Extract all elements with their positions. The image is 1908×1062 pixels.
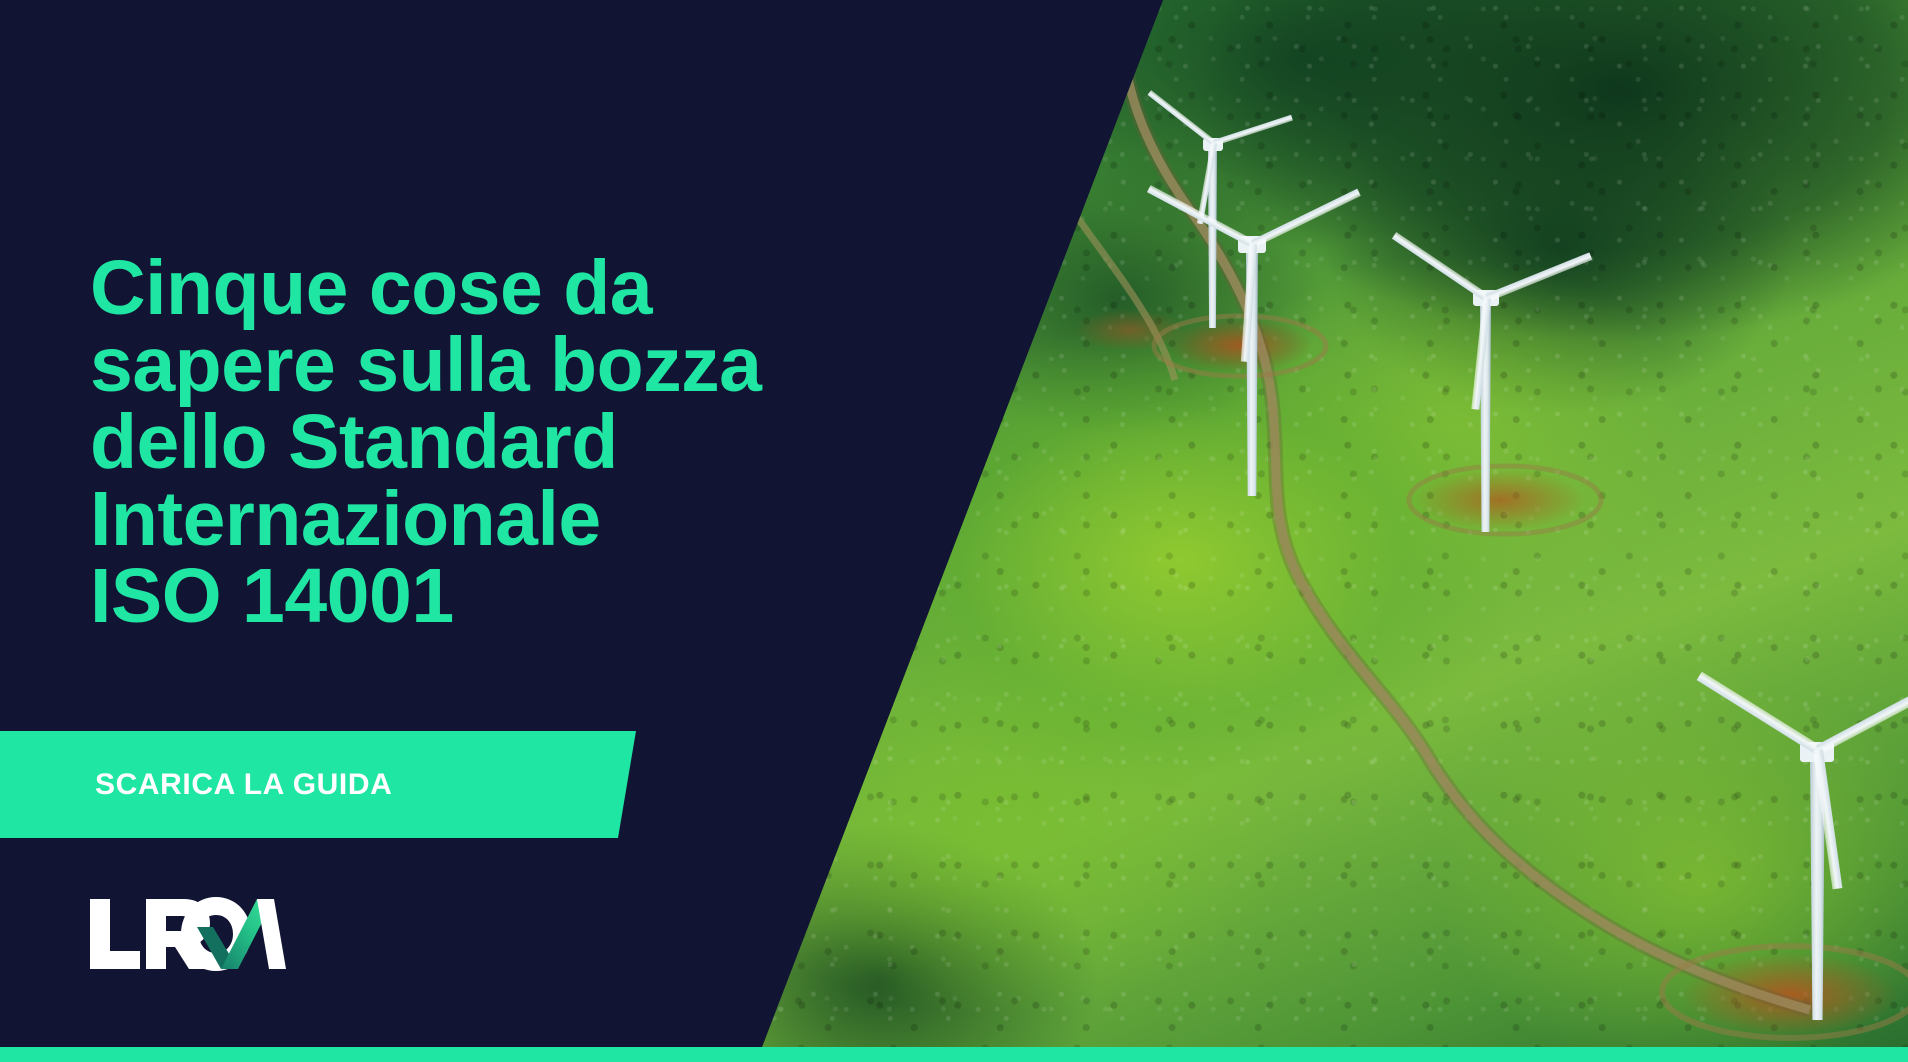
promotional-banner: Cinque cose da sapere sulla bozza dello … xyxy=(0,0,1908,1062)
download-guide-button[interactable]: SCARICA LA GUIDA xyxy=(0,731,636,838)
download-guide-label: SCARICA LA GUIDA xyxy=(0,768,392,802)
bottom-accent-bar xyxy=(0,1047,1908,1062)
wind-turbine xyxy=(1418,232,1678,532)
wind-turbine xyxy=(1700,660,1908,1020)
lrqa-logo-mark xyxy=(88,893,288,975)
page-title: Cinque cose da sapere sulla bozza dello … xyxy=(90,250,810,635)
lrqa-logo xyxy=(88,893,288,975)
